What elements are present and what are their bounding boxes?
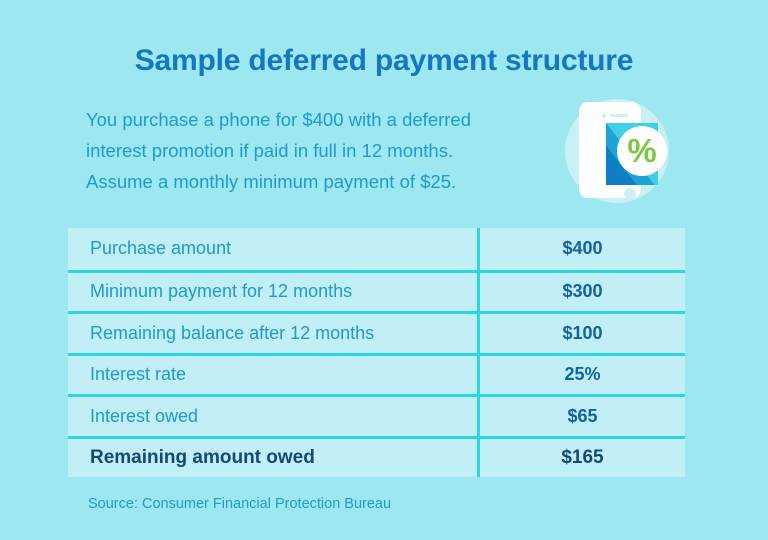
payment-structure-table: Purchase amount $400 Minimum payment for…	[68, 228, 685, 477]
phone-camera-dot-icon	[602, 114, 606, 118]
intro-line-1: You purchase a phone for $400 with a def…	[86, 104, 516, 135]
percent-symbol: %	[627, 134, 656, 167]
source-attribution: Source: Consumer Financial Protection Bu…	[88, 496, 391, 512]
table-row-total: Remaining amount owed $165	[68, 436, 685, 478]
table-row: Purchase amount $400	[68, 228, 685, 270]
infographic-canvas: Sample deferred payment structure You pu…	[0, 0, 768, 540]
phone-home-button-icon	[624, 188, 636, 200]
row-value: $400	[477, 228, 685, 270]
row-label: Minimum payment for 12 months	[68, 281, 477, 302]
table-row: Remaining balance after 12 months $100	[68, 311, 685, 353]
table-row: Interest rate 25%	[68, 353, 685, 395]
table-row: Interest owed $65	[68, 394, 685, 436]
row-value: $165	[477, 439, 685, 478]
phone-speaker-icon	[610, 114, 628, 117]
percent-badge-icon: %	[617, 126, 667, 176]
row-value: $100	[477, 314, 685, 353]
row-label: Interest rate	[68, 364, 477, 385]
phone-percent-icon: %	[557, 96, 675, 208]
row-label: Purchase amount	[68, 238, 477, 259]
page-title: Sample deferred payment structure	[0, 44, 768, 78]
table-row: Minimum payment for 12 months $300	[68, 270, 685, 312]
intro-line-2: interest promotion if paid in full in 12…	[86, 135, 516, 166]
row-label: Interest owed	[68, 406, 477, 427]
intro-line-3: Assume a monthly minimum payment of $25.	[86, 166, 516, 197]
row-label: Remaining amount owed	[68, 447, 477, 469]
row-label: Remaining balance after 12 months	[68, 323, 477, 344]
row-value: $65	[477, 397, 685, 436]
row-value: 25%	[477, 356, 685, 395]
intro-paragraph: You purchase a phone for $400 with a def…	[86, 104, 516, 197]
row-value: $300	[477, 273, 685, 312]
